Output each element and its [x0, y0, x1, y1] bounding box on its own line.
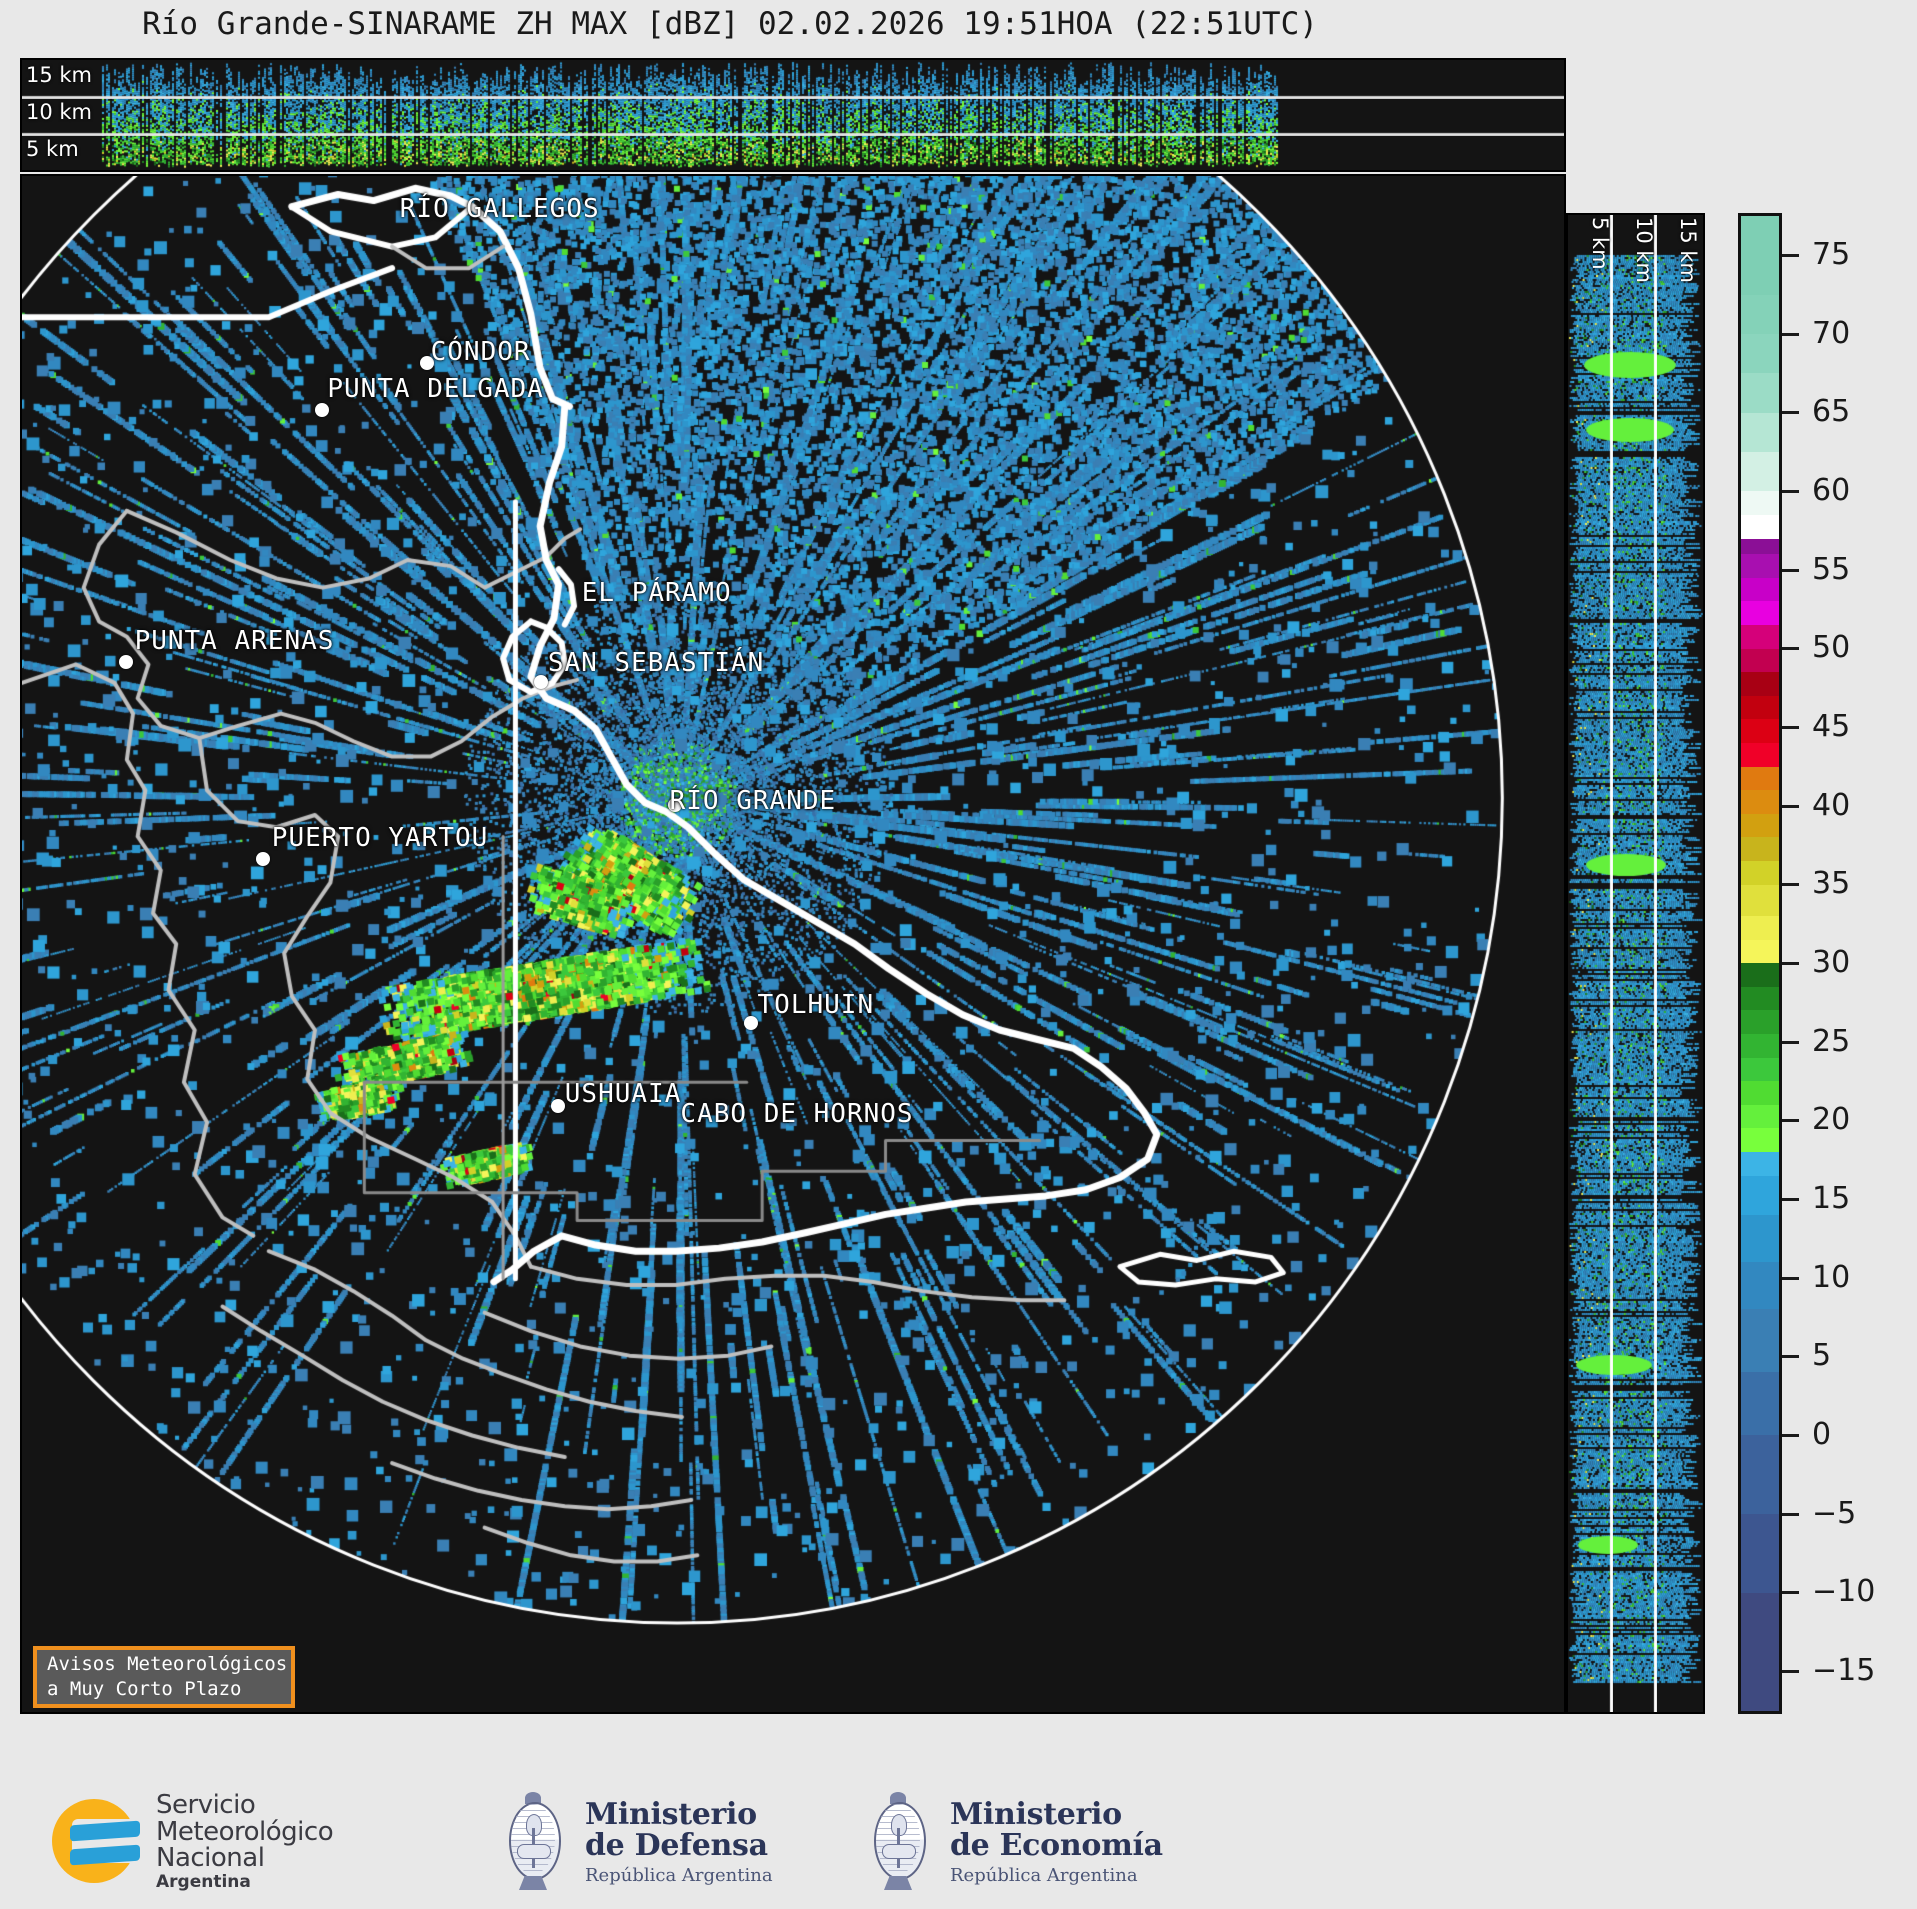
smn-line-2: Meteorológico	[156, 1819, 333, 1846]
economia-line-2: de Economía	[950, 1830, 1163, 1862]
colorbar-segment	[1741, 767, 1779, 791]
colorbar-segment	[1741, 1152, 1779, 1176]
colorbar-segment	[1741, 515, 1779, 539]
right-height-label-5km: 5 km	[1588, 217, 1612, 270]
colorbar-segment	[1741, 649, 1779, 673]
defensa-line-2: de Defensa	[585, 1830, 773, 1862]
top-height-label-10km: 10 km	[26, 100, 92, 124]
city-label: TOLHUIN	[758, 990, 875, 1020]
city-label: PUERTO YARTOU	[272, 823, 489, 853]
colorbar-segment	[1741, 1105, 1779, 1129]
colorbar-segment	[1741, 1514, 1779, 1593]
city-label: CÓNDOR	[431, 337, 531, 367]
dbz-colorbar	[1738, 213, 1782, 1714]
dbz-colorbar-ticks: 757065605550454035302520151050−5−10−15	[1782, 213, 1912, 1714]
city-marker-dot[interactable]	[551, 1099, 565, 1113]
footer-logos: Servicio Meteorológico Nacional Argentin…	[0, 1780, 1917, 1909]
smn-line-4: Argentina	[156, 1874, 333, 1891]
height-gridline-5km	[22, 134, 1564, 136]
colorbar-segment	[1741, 837, 1779, 861]
city-label: EL PÁRAMO	[582, 578, 732, 608]
colorbar-segment	[1741, 539, 1779, 555]
logo-ministerio-de-economia: Ministerio de Economía República Argenti…	[860, 1788, 1163, 1896]
colorbar-segment	[1741, 1176, 1779, 1215]
city-marker-dot[interactable]	[744, 1016, 758, 1030]
colorbar-segment	[1741, 940, 1779, 964]
height-gridline-10km	[22, 97, 1564, 99]
city-label: PUNTA DELGADA	[327, 374, 544, 404]
colorbar-segment	[1741, 601, 1779, 625]
city-label: SAN SEBASTIÁN	[548, 648, 765, 678]
colorbar-segment	[1741, 295, 1779, 334]
defensa-line-3: República Argentina	[585, 1866, 773, 1885]
colorbar-segment	[1741, 1058, 1779, 1082]
colorbar-segment	[1741, 719, 1779, 743]
top-cross-section-panel: 15 km 10 km 5 km	[20, 58, 1566, 172]
colorbar-segment	[1741, 1309, 1779, 1372]
colorbar-segment	[1741, 413, 1779, 452]
colorbar-segment	[1741, 216, 1779, 295]
colorbar-segment	[1741, 491, 1779, 515]
city-label: PUNTA ARENAS	[135, 626, 335, 656]
argentina-coat-of-arms-icon	[495, 1788, 571, 1896]
economia-line-3: República Argentina	[950, 1866, 1163, 1885]
top-height-label-5km: 5 km	[26, 137, 79, 161]
height-gridline-v-10km	[1655, 215, 1657, 1712]
colorbar-segment	[1741, 987, 1779, 1011]
city-label: USHUAIA	[565, 1079, 682, 1109]
height-gridline-v-5km	[1611, 215, 1613, 1712]
avisos-line-2: a Muy Corto Plazo	[47, 1677, 291, 1702]
right-height-label-15km: 15 km	[1676, 217, 1700, 283]
smn-line-3: Nacional	[156, 1845, 333, 1872]
colorbar-segment	[1741, 916, 1779, 940]
avisos-meteorologicos-box[interactable]: Avisos Meteorológicos a Muy Corto Plazo	[33, 1646, 295, 1708]
avisos-line-1: Avisos Meteorológicos	[47, 1652, 291, 1677]
ppi-radar-map[interactable]: RÍO GALLEGOSCÓNDORPUNTA DELGADAEL PÁRAMO…	[20, 174, 1566, 1714]
colorbar-segment	[1741, 1372, 1779, 1435]
colorbar-segment	[1741, 814, 1779, 838]
logo-ministerio-de-defensa: Ministerio de Defensa República Argentin…	[495, 1788, 773, 1896]
colorbar-segment	[1741, 578, 1779, 602]
colorbar-segment	[1741, 1081, 1779, 1105]
colorbar-segment	[1741, 696, 1779, 720]
colorbar-segment	[1741, 1215, 1779, 1262]
smn-mark-icon	[52, 1795, 144, 1887]
smn-line-1: Servicio	[156, 1792, 333, 1819]
city-label: RÍO GRANDE	[670, 786, 837, 816]
colorbar-segment	[1741, 1435, 1779, 1514]
colorbar-segment	[1741, 743, 1779, 767]
defensa-line-1: Ministerio	[585, 1799, 773, 1831]
top-height-label-15km: 15 km	[26, 63, 92, 87]
colorbar-segment	[1741, 963, 1779, 987]
right-height-label-10km: 10 km	[1632, 217, 1656, 283]
colorbar-segment	[1741, 885, 1779, 916]
colorbar-segment	[1741, 554, 1779, 578]
colorbar-segment	[1741, 1034, 1779, 1058]
city-label: CABO DE HORNOS	[680, 1099, 913, 1129]
colorbar-segment	[1741, 452, 1779, 491]
city-label: RÍO GALLEGOS	[400, 194, 600, 224]
argentina-coat-of-arms-icon	[860, 1788, 936, 1896]
colorbar-segment	[1741, 861, 1779, 885]
colorbar-segment	[1741, 790, 1779, 814]
page-title: Río Grande-SINARAME ZH MAX [dBZ] 02.02.2…	[0, 6, 1460, 42]
colorbar-segment	[1741, 1128, 1779, 1152]
colorbar-segment	[1741, 1593, 1779, 1711]
colorbar-segment	[1741, 1010, 1779, 1034]
colorbar-segment	[1741, 1262, 1779, 1309]
colorbar-segment	[1741, 625, 1779, 649]
colorbar-segment	[1741, 672, 1779, 696]
colorbar-segment	[1741, 373, 1779, 412]
economia-line-1: Ministerio	[950, 1799, 1163, 1831]
logo-servicio-meteorologico-nacional: Servicio Meteorológico Nacional Argentin…	[52, 1792, 333, 1891]
right-cross-section-panel: 5 km 10 km 15 km	[1566, 213, 1705, 1714]
colorbar-segment	[1741, 334, 1779, 373]
